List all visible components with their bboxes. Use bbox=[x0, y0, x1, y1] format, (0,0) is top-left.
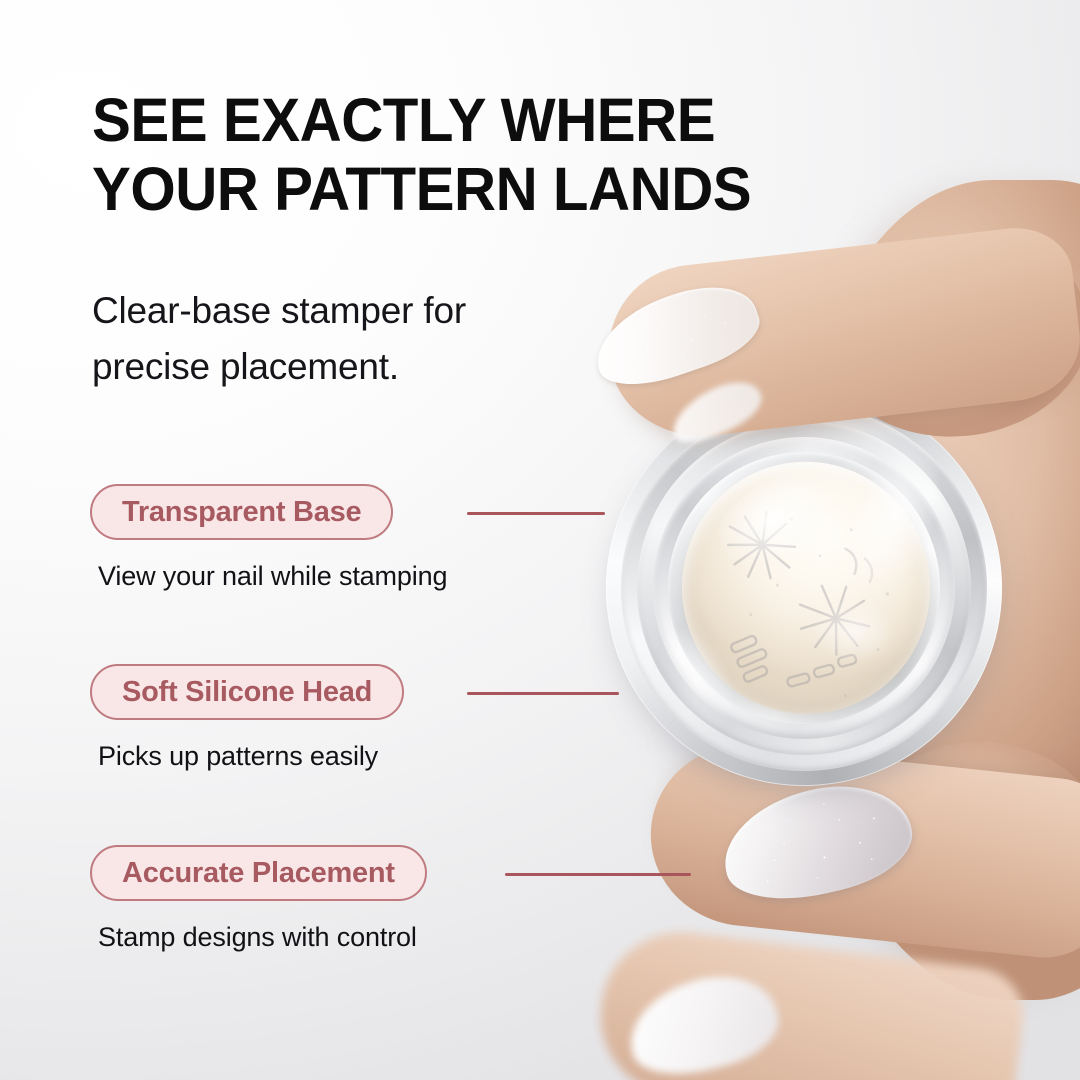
infographic-canvas: SEE EXACTLY WHERE YOUR PATTERN LANDS Cle… bbox=[0, 0, 1080, 1080]
feature-badge-transparent-base[interactable]: Transparent Base bbox=[90, 484, 393, 540]
feature-block-transparent-base: Transparent Base View your nail while st… bbox=[90, 484, 447, 592]
feature-caption-accurate-placement: Stamp designs with control bbox=[98, 922, 427, 953]
connector-line-2 bbox=[467, 692, 619, 695]
feature-caption-transparent-base: View your nail while stamping bbox=[98, 561, 447, 592]
page-title: SEE EXACTLY WHERE YOUR PATTERN LANDS bbox=[92, 86, 761, 224]
connector-line-1 bbox=[467, 512, 605, 515]
headline-line-2: YOUR PATTERN LANDS bbox=[92, 155, 761, 224]
connector-line-3 bbox=[505, 873, 691, 876]
subheadline: Clear-base stamper for precise placement… bbox=[92, 283, 612, 395]
subheadline-line-1: Clear-base stamper for bbox=[92, 283, 612, 339]
feature-badge-accurate-placement[interactable]: Accurate Placement bbox=[90, 845, 427, 901]
feature-block-soft-silicone-head: Soft Silicone Head Picks up patterns eas… bbox=[90, 664, 404, 772]
subheadline-line-2: precise placement. bbox=[92, 339, 612, 395]
feature-block-accurate-placement: Accurate Placement Stamp designs with co… bbox=[90, 845, 427, 953]
headline-line-1: SEE EXACTLY WHERE bbox=[92, 86, 761, 155]
picked-up-floral-pattern bbox=[668, 448, 945, 728]
feature-caption-soft-silicone-head: Picks up patterns easily bbox=[98, 741, 404, 772]
silicone-stamper-head bbox=[668, 448, 945, 728]
feature-badge-soft-silicone-head[interactable]: Soft Silicone Head bbox=[90, 664, 404, 720]
